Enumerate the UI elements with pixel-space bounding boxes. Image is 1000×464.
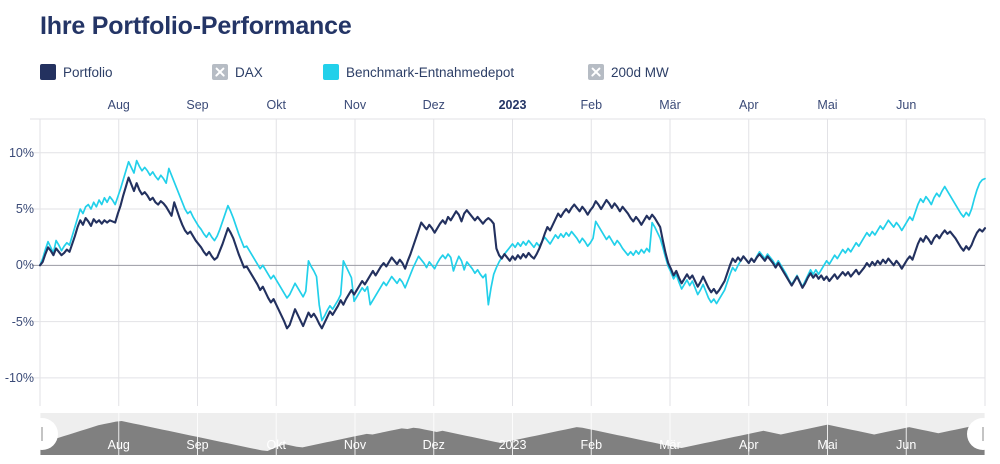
navigator-handle-right[interactable] [967,418,999,450]
chart-plot-area[interactable] [0,0,1000,464]
portfolio-performance-chart-widget: Ihre Portfolio-Performance Portfolio DAX… [0,0,1000,464]
navigator-handle-left[interactable] [26,418,58,450]
